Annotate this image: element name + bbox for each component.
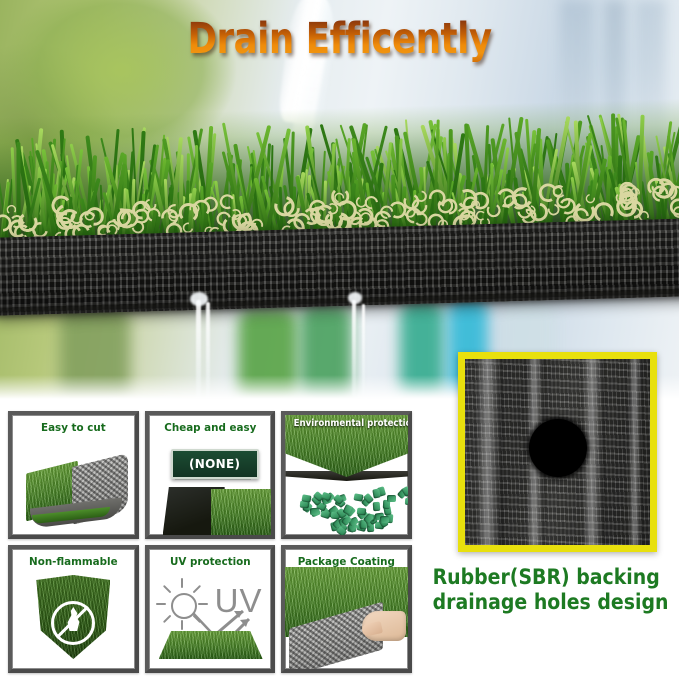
rubber-ridge xyxy=(477,352,503,552)
rubber-ridge xyxy=(583,352,605,552)
plastic-pellet xyxy=(372,502,380,511)
plastic-pellet xyxy=(357,508,367,516)
rubber-caption-line-1: Rubber(SBR) backing xyxy=(433,565,660,590)
price-sign-label: (NONE) xyxy=(189,457,240,471)
feature-card-title: Package Coating xyxy=(289,555,404,568)
price-sign: (NONE) xyxy=(171,449,259,479)
plastic-pellet xyxy=(387,495,396,502)
turf-cross-section xyxy=(0,98,679,317)
turf-mat xyxy=(159,631,263,659)
rubber-caption: Rubber(SBR) backing drainage holes desig… xyxy=(433,565,660,615)
feature-card-package-coating[interactable]: Package Coating xyxy=(281,545,412,673)
feature-card-non-flammable[interactable]: Non-flammable xyxy=(8,545,139,673)
feature-card-title: Cheap and easy xyxy=(152,421,267,434)
turf-pellets-icon xyxy=(285,415,408,535)
feature-card-title: UV protection xyxy=(152,555,267,568)
plastic-pellet xyxy=(353,493,363,502)
feature-card-uv-protection[interactable]: UV UV protection xyxy=(145,545,276,673)
rubber-ridge xyxy=(629,352,643,552)
prohibition-circle-icon xyxy=(51,601,95,645)
feature-card-environmental-protection[interactable]: Environmental protection materials xyxy=(281,411,412,539)
feature-card-title: Environmental protection materials xyxy=(294,418,399,429)
plastic-pellet xyxy=(380,515,389,522)
feature-card-easy-to-cut[interactable]: Easy to cut xyxy=(8,411,139,539)
shield-shape xyxy=(36,575,110,659)
rubber-backing-closeup[interactable] xyxy=(458,352,657,552)
product-feature-poster: Drain Efficently Easy to cut (NONE) xyxy=(0,0,679,679)
feature-card-title: Non-flammable xyxy=(16,555,131,568)
plastic-pellet xyxy=(404,498,412,505)
feature-card-title: Easy to cut xyxy=(16,421,131,434)
page-title: Drain Efficently xyxy=(27,14,652,64)
drainage-hole xyxy=(529,419,587,477)
rubber-caption-line-2: drainage holes design xyxy=(433,590,660,615)
plastic-pellets-pile xyxy=(285,485,408,535)
water-droplet xyxy=(190,292,208,306)
feature-card-cheap-and-easy[interactable]: (NONE) Cheap and easy xyxy=(145,411,276,539)
plastic-pellet xyxy=(372,488,380,498)
water-droplet xyxy=(348,292,362,304)
turf-thatch xyxy=(403,205,416,218)
feature-grid: Easy to cut (NONE) Cheap and easy Enviro… xyxy=(8,411,412,673)
green-turf-patch xyxy=(211,489,271,535)
